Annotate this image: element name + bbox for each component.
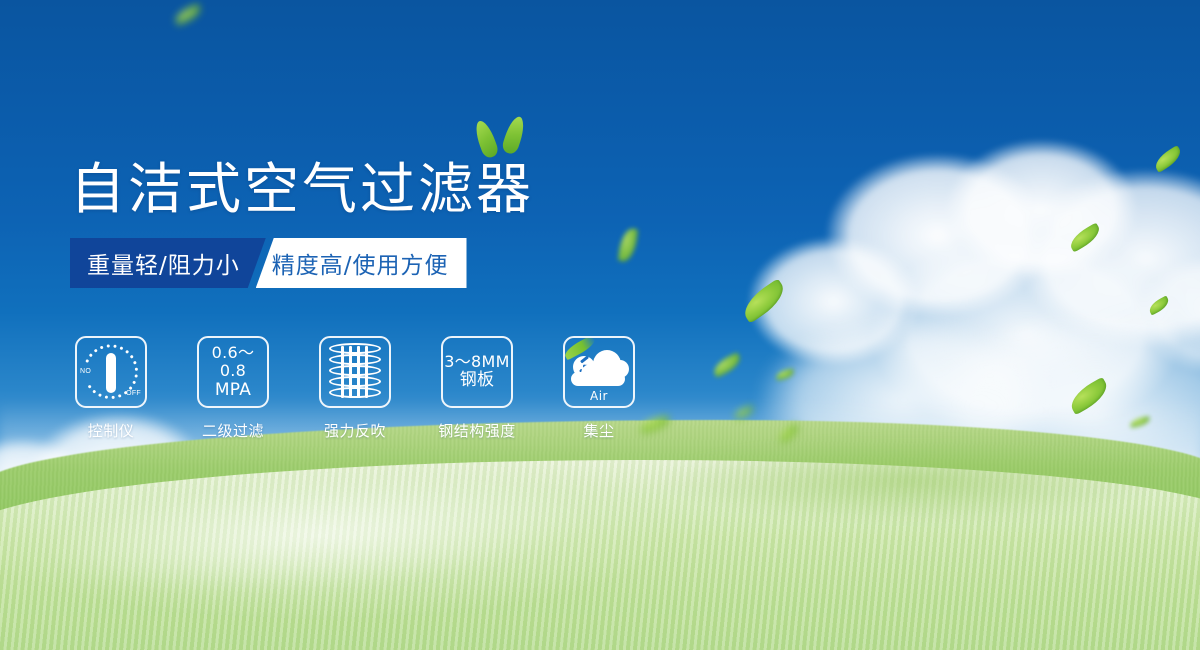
leaf-icon xyxy=(710,352,743,378)
pressure-line1: 0.6～0.8 xyxy=(199,344,267,381)
feature-label: 控制仪 xyxy=(88,420,135,441)
gauge-label-off: OFF xyxy=(126,390,141,397)
subtitle-left: 重量轻/阻力小 xyxy=(70,238,266,288)
cloud-base xyxy=(571,372,625,386)
feature-label: 钢结构强度 xyxy=(438,420,516,441)
feature-item-controller[interactable]: NO OFF 控制仪 xyxy=(70,336,152,441)
feature-label: 强力反吹 xyxy=(324,420,386,441)
leaf-icon xyxy=(173,3,204,26)
leaf-icon xyxy=(733,405,755,420)
page-title: 自洁式空气过滤器 xyxy=(70,144,534,224)
steel-plate-text-icon: 3～8MM 钢板 xyxy=(444,353,509,391)
hero-banner: 自洁式空气过滤器 重量轻/阻力小 精度高/使用方便 xyxy=(0,0,1200,650)
leaf-icon xyxy=(1067,223,1104,253)
steel-line2: 钢板 xyxy=(444,371,509,391)
feature-item-backblow[interactable]: 强力反吹 xyxy=(314,336,396,441)
feature-icon-box: 0.6～0.8 MPA xyxy=(197,336,269,408)
feature-icon-box: Air xyxy=(563,336,635,408)
feature-label: 集尘 xyxy=(583,420,614,441)
feature-item-filtration[interactable]: 0.6～0.8 MPA 二级过滤 xyxy=(192,336,274,441)
feature-item-steel[interactable]: 3～8MM 钢板 钢结构强度 xyxy=(436,336,518,441)
leaf-icon xyxy=(1066,377,1112,415)
gauge-dial-icon: NO OFF xyxy=(79,340,143,404)
subtitle-bar: 重量轻/阻力小 精度高/使用方便 xyxy=(70,238,462,288)
gauge-needle xyxy=(106,353,116,393)
gauge-label-no: NO xyxy=(80,368,91,375)
pressure-line2: MPA xyxy=(199,381,267,401)
cloud-air-icon: Air xyxy=(567,344,631,400)
feature-list: NO OFF 控制仪 0.6～0.8 MPA 二级过滤 xyxy=(70,336,640,441)
feature-item-dust[interactable]: Air 集尘 xyxy=(558,336,640,441)
leaf-icon xyxy=(738,278,790,323)
feature-icon-box xyxy=(319,336,391,408)
leaf-icon xyxy=(775,369,794,381)
grass-shadow-band xyxy=(560,420,1200,540)
feature-label: 二级过滤 xyxy=(202,420,264,441)
filter-coil-icon xyxy=(329,343,381,401)
air-label: Air xyxy=(567,389,631,403)
cloud-main-upper-right xyxy=(740,110,1200,440)
leaf-icon xyxy=(1152,145,1185,173)
subtitle-right: 精度高/使用方便 xyxy=(256,238,467,288)
feature-icon-box: NO OFF xyxy=(75,336,147,408)
steel-line1: 3～8MM xyxy=(444,353,509,371)
pressure-text-icon: 0.6～0.8 MPA xyxy=(199,344,267,400)
leaf-icon xyxy=(618,227,639,263)
feature-icon-box: 3～8MM 钢板 xyxy=(441,336,513,408)
leaf-icon xyxy=(1147,295,1172,315)
